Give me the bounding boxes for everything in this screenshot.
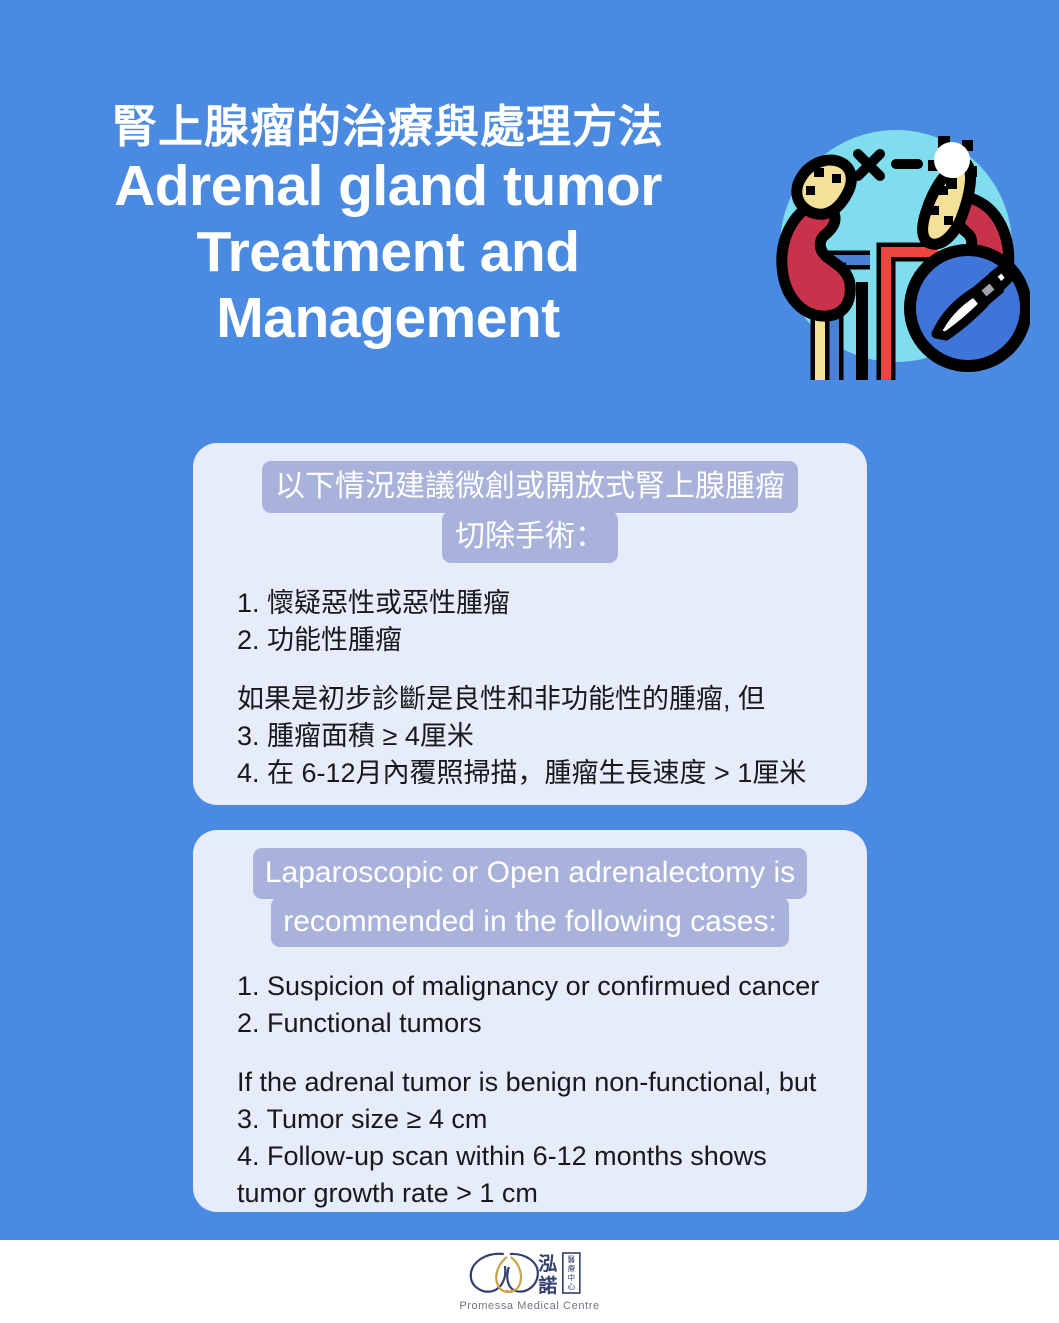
title-block: 腎上腺瘤的治療與處理方法 Adrenal gland tumor Treatme…: [38, 100, 738, 351]
chinese-list-item-1: 1. 懷疑惡性或惡性腫瘤: [237, 585, 867, 622]
english-card-heading: Laparoscopic or Open adrenalectomy is re…: [193, 830, 867, 947]
adrenal-gland-surgery-icon: [762, 112, 1030, 380]
logo-mark-icon: 泓 諾 醫 療 中 心: [463, 1248, 595, 1298]
footer: 泓 諾 醫 療 中 心 Promessa Medical Centre: [0, 1240, 1059, 1323]
chinese-list-item-3: 3. 腫瘤面積 ≥ 4厘米: [237, 718, 867, 755]
chinese-list-item-2: 2. 功能性腫瘤: [237, 622, 867, 659]
chinese-heading-line-1: 以下情況建議微創或開放式腎上腺腫瘤: [262, 461, 798, 513]
logo-seal-char-2: 療: [567, 1263, 575, 1273]
chinese-list-item-4: 4. 在 6-12月內覆照掃描，腫瘤生長速度 > 1厘米: [237, 755, 867, 792]
logo-char-hong: 泓: [538, 1252, 557, 1275]
english-recommendation-card: Laparoscopic or Open adrenalectomy is re…: [193, 830, 867, 1212]
english-body-spacer: [237, 1043, 867, 1064]
page-title-english-line-3: Management: [38, 285, 738, 351]
english-card-body: 1. Suspicion of malignancy or confirmued…: [193, 947, 867, 1213]
logo-seal-char-4: 心: [567, 1282, 575, 1291]
chinese-recommendation-card: 以下情況建議微創或開放式腎上腺腫瘤 切除手術： 1. 懷疑惡性或惡性腫瘤 2. …: [193, 443, 867, 805]
logo-wordmark: Promessa Medical Centre: [459, 1300, 599, 1312]
english-heading-line-1: Laparoscopic or Open adrenalectomy is: [253, 848, 807, 899]
english-list-item-4-continued: tumor growth rate > 1 cm: [237, 1175, 867, 1212]
chinese-card-heading: 以下情況建議微創或開放式腎上腺腫瘤 切除手術：: [193, 443, 867, 563]
chinese-heading-line-2: 切除手術：: [442, 511, 618, 563]
logo-seal-char-3: 中: [567, 1272, 575, 1282]
page-title-english-line-2: Treatment and: [38, 219, 738, 285]
english-list-item-3: 3. Tumor size ≥ 4 cm: [237, 1101, 867, 1138]
english-list-item-2: 2. Functional tumors: [237, 1005, 867, 1042]
chinese-card-body: 1. 懷疑惡性或惡性腫瘤 2. 功能性腫瘤 如果是初步診斷是良性和非功能性的腫瘤…: [193, 563, 867, 792]
page-title-english-line-1: Adrenal gland tumor: [38, 153, 738, 219]
english-heading-line-2: recommended in the following cases:: [271, 897, 789, 948]
chinese-body-spacer: [237, 660, 867, 681]
logo-char-nok: 諾: [538, 1274, 557, 1297]
english-list-item-4: 4. Follow-up scan within 6-12 months sho…: [237, 1138, 867, 1175]
chinese-condition-intro: 如果是初步診斷是良性和非功能性的腫瘤, 但: [237, 681, 867, 718]
header: 腎上腺瘤的治療與處理方法 Adrenal gland tumor Treatme…: [0, 0, 1059, 400]
english-list-item-1: 1. Suspicion of malignancy or confirmued…: [237, 968, 867, 1005]
logo-seal-char-1: 醫: [567, 1255, 575, 1264]
english-condition-intro: If the adrenal tumor is benign non-funct…: [237, 1064, 867, 1101]
promessa-butterfly-logo: 泓 諾 醫 療 中 心 Promessa Medical Centre: [459, 1248, 599, 1312]
page-title-chinese: 腎上腺瘤的治療與處理方法: [38, 100, 738, 153]
